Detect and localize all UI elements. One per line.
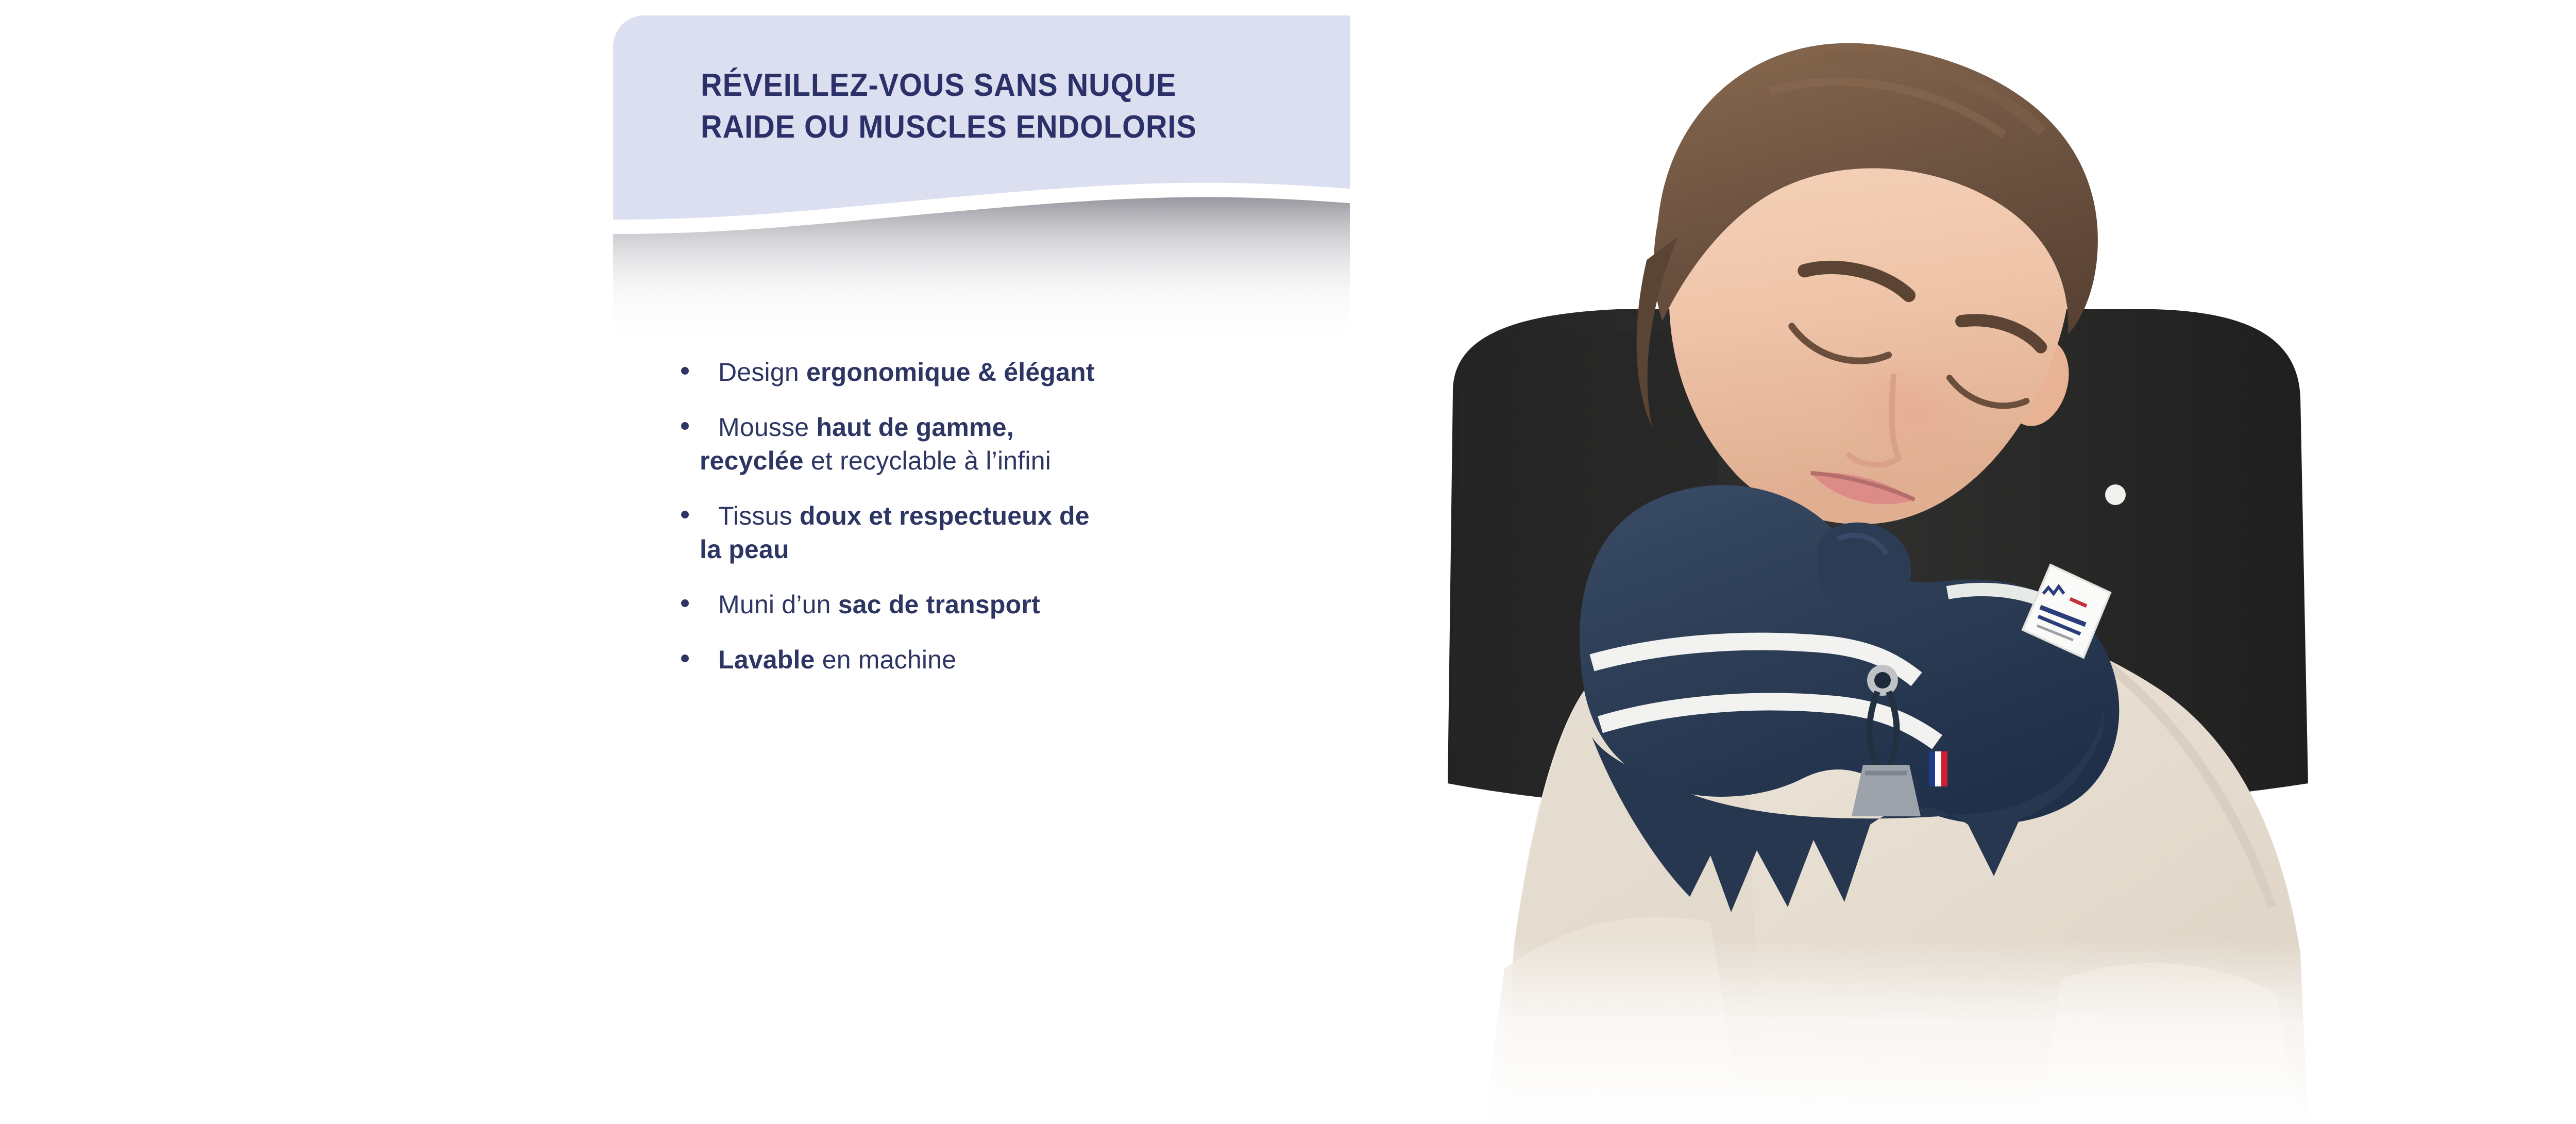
product-feature-banner: RÉVEILLEZ-VOUS SANS NUQUE RAIDE OU MUSCL… — [0, 0, 2576, 1124]
photo-bottom-fade — [1350, 938, 2354, 1124]
french-flag-tag — [1929, 751, 1947, 786]
product-photo — [1350, 0, 2354, 1124]
bullet-dot-icon — [681, 367, 689, 375]
bullet-dot-icon — [681, 599, 689, 607]
bullet-dot-icon — [681, 511, 689, 518]
bullet-dot-icon — [681, 422, 689, 430]
pillow-button — [2105, 484, 2126, 505]
bullet-dot-icon — [681, 655, 689, 662]
